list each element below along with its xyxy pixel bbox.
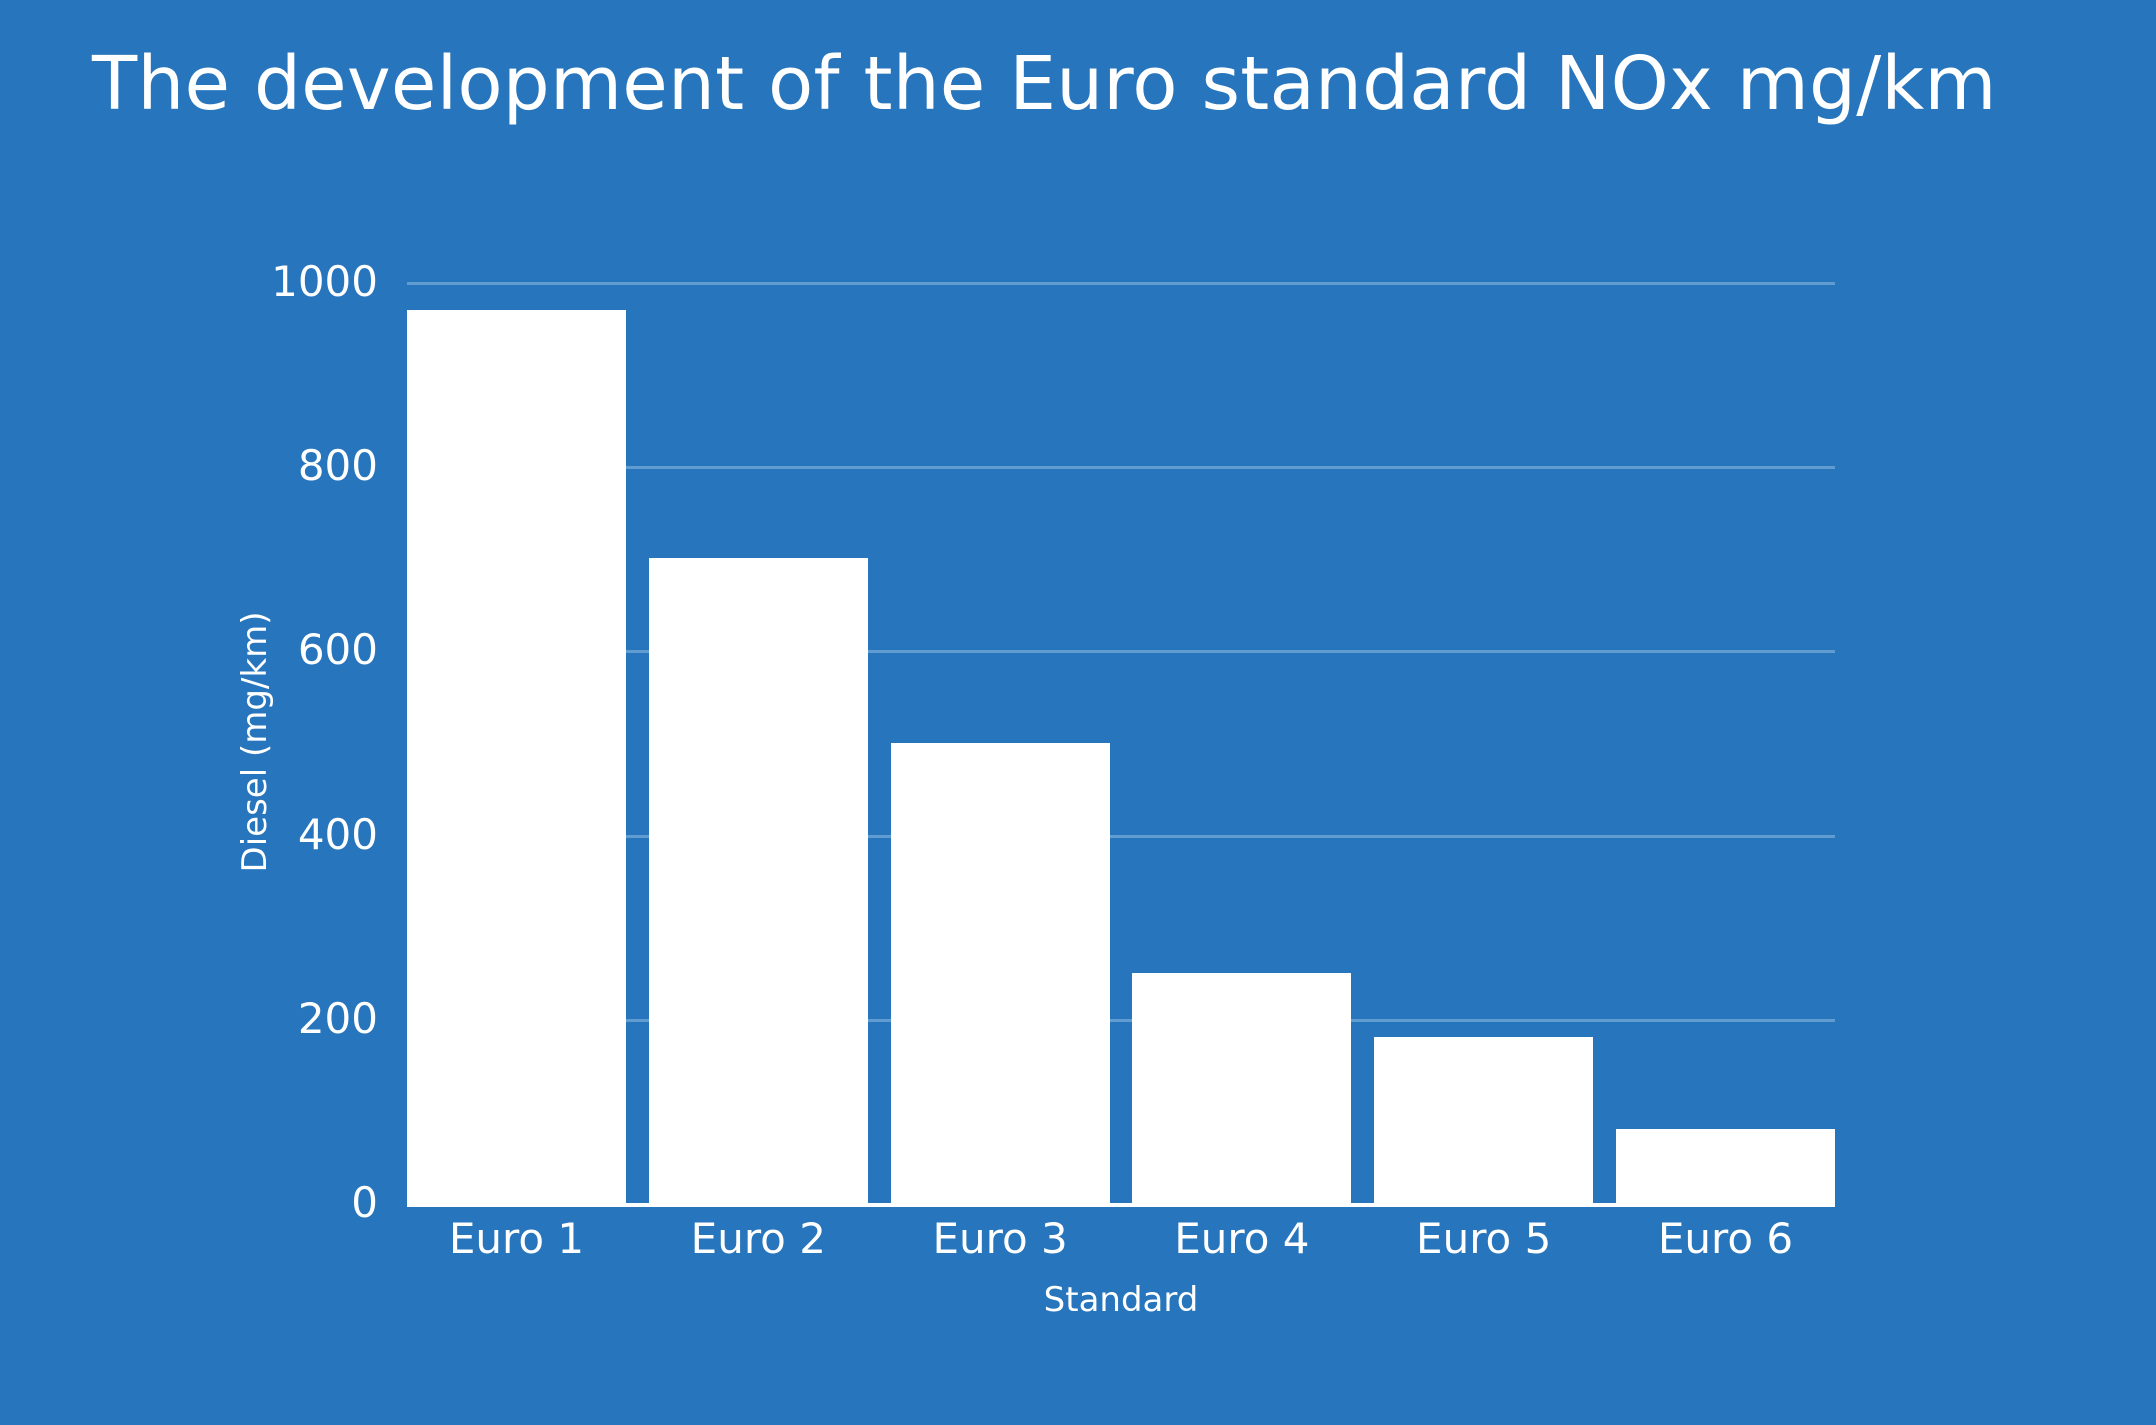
y-tick-label-1000: 1000 xyxy=(271,261,378,303)
bar-slot-euro-5 xyxy=(1374,282,1593,1203)
x-tick-label-euro-3: Euro 3 xyxy=(891,1218,1110,1260)
plot-area xyxy=(407,282,1835,1203)
bar-euro-4[interactable] xyxy=(1132,973,1351,1203)
bar-slot-euro-1 xyxy=(407,282,626,1203)
bar-chart-figure: 1000 800 600 400 200 0 Diesel (mg/km) xyxy=(0,0,2156,1425)
bar-euro-6[interactable] xyxy=(1616,1129,1835,1203)
y-tick-label-200: 200 xyxy=(298,998,378,1040)
bar-euro-3[interactable] xyxy=(891,743,1110,1204)
bar-series xyxy=(407,282,1835,1203)
x-axis-title: Standard xyxy=(407,1280,1835,1320)
x-tick-label-euro-4: Euro 4 xyxy=(1132,1218,1351,1260)
x-tick-label-euro-1: Euro 1 xyxy=(407,1218,626,1260)
bar-euro-5[interactable] xyxy=(1374,1037,1593,1203)
bar-slot-euro-2 xyxy=(649,282,868,1203)
x-axis-tick-labels: Euro 1 Euro 2 Euro 3 Euro 4 Euro 5 Euro … xyxy=(407,1218,1835,1260)
y-tick-label-0: 0 xyxy=(351,1182,378,1224)
y-tick-label-400: 400 xyxy=(298,814,378,856)
x-axis-line xyxy=(407,1203,1835,1207)
y-tick-label-800: 800 xyxy=(298,445,378,487)
bar-slot-euro-6 xyxy=(1616,282,1835,1203)
x-tick-label-euro-2: Euro 2 xyxy=(649,1218,868,1260)
x-tick-label-euro-6: Euro 6 xyxy=(1616,1218,1835,1260)
bar-slot-euro-4 xyxy=(1132,282,1351,1203)
y-tick-label-600: 600 xyxy=(298,629,378,671)
bar-slot-euro-3 xyxy=(891,282,1110,1203)
bar-euro-2[interactable] xyxy=(649,558,868,1203)
x-tick-label-euro-5: Euro 5 xyxy=(1374,1218,1593,1260)
bar-euro-1[interactable] xyxy=(407,310,626,1203)
y-axis-title: Diesel (mg/km) xyxy=(235,612,275,873)
